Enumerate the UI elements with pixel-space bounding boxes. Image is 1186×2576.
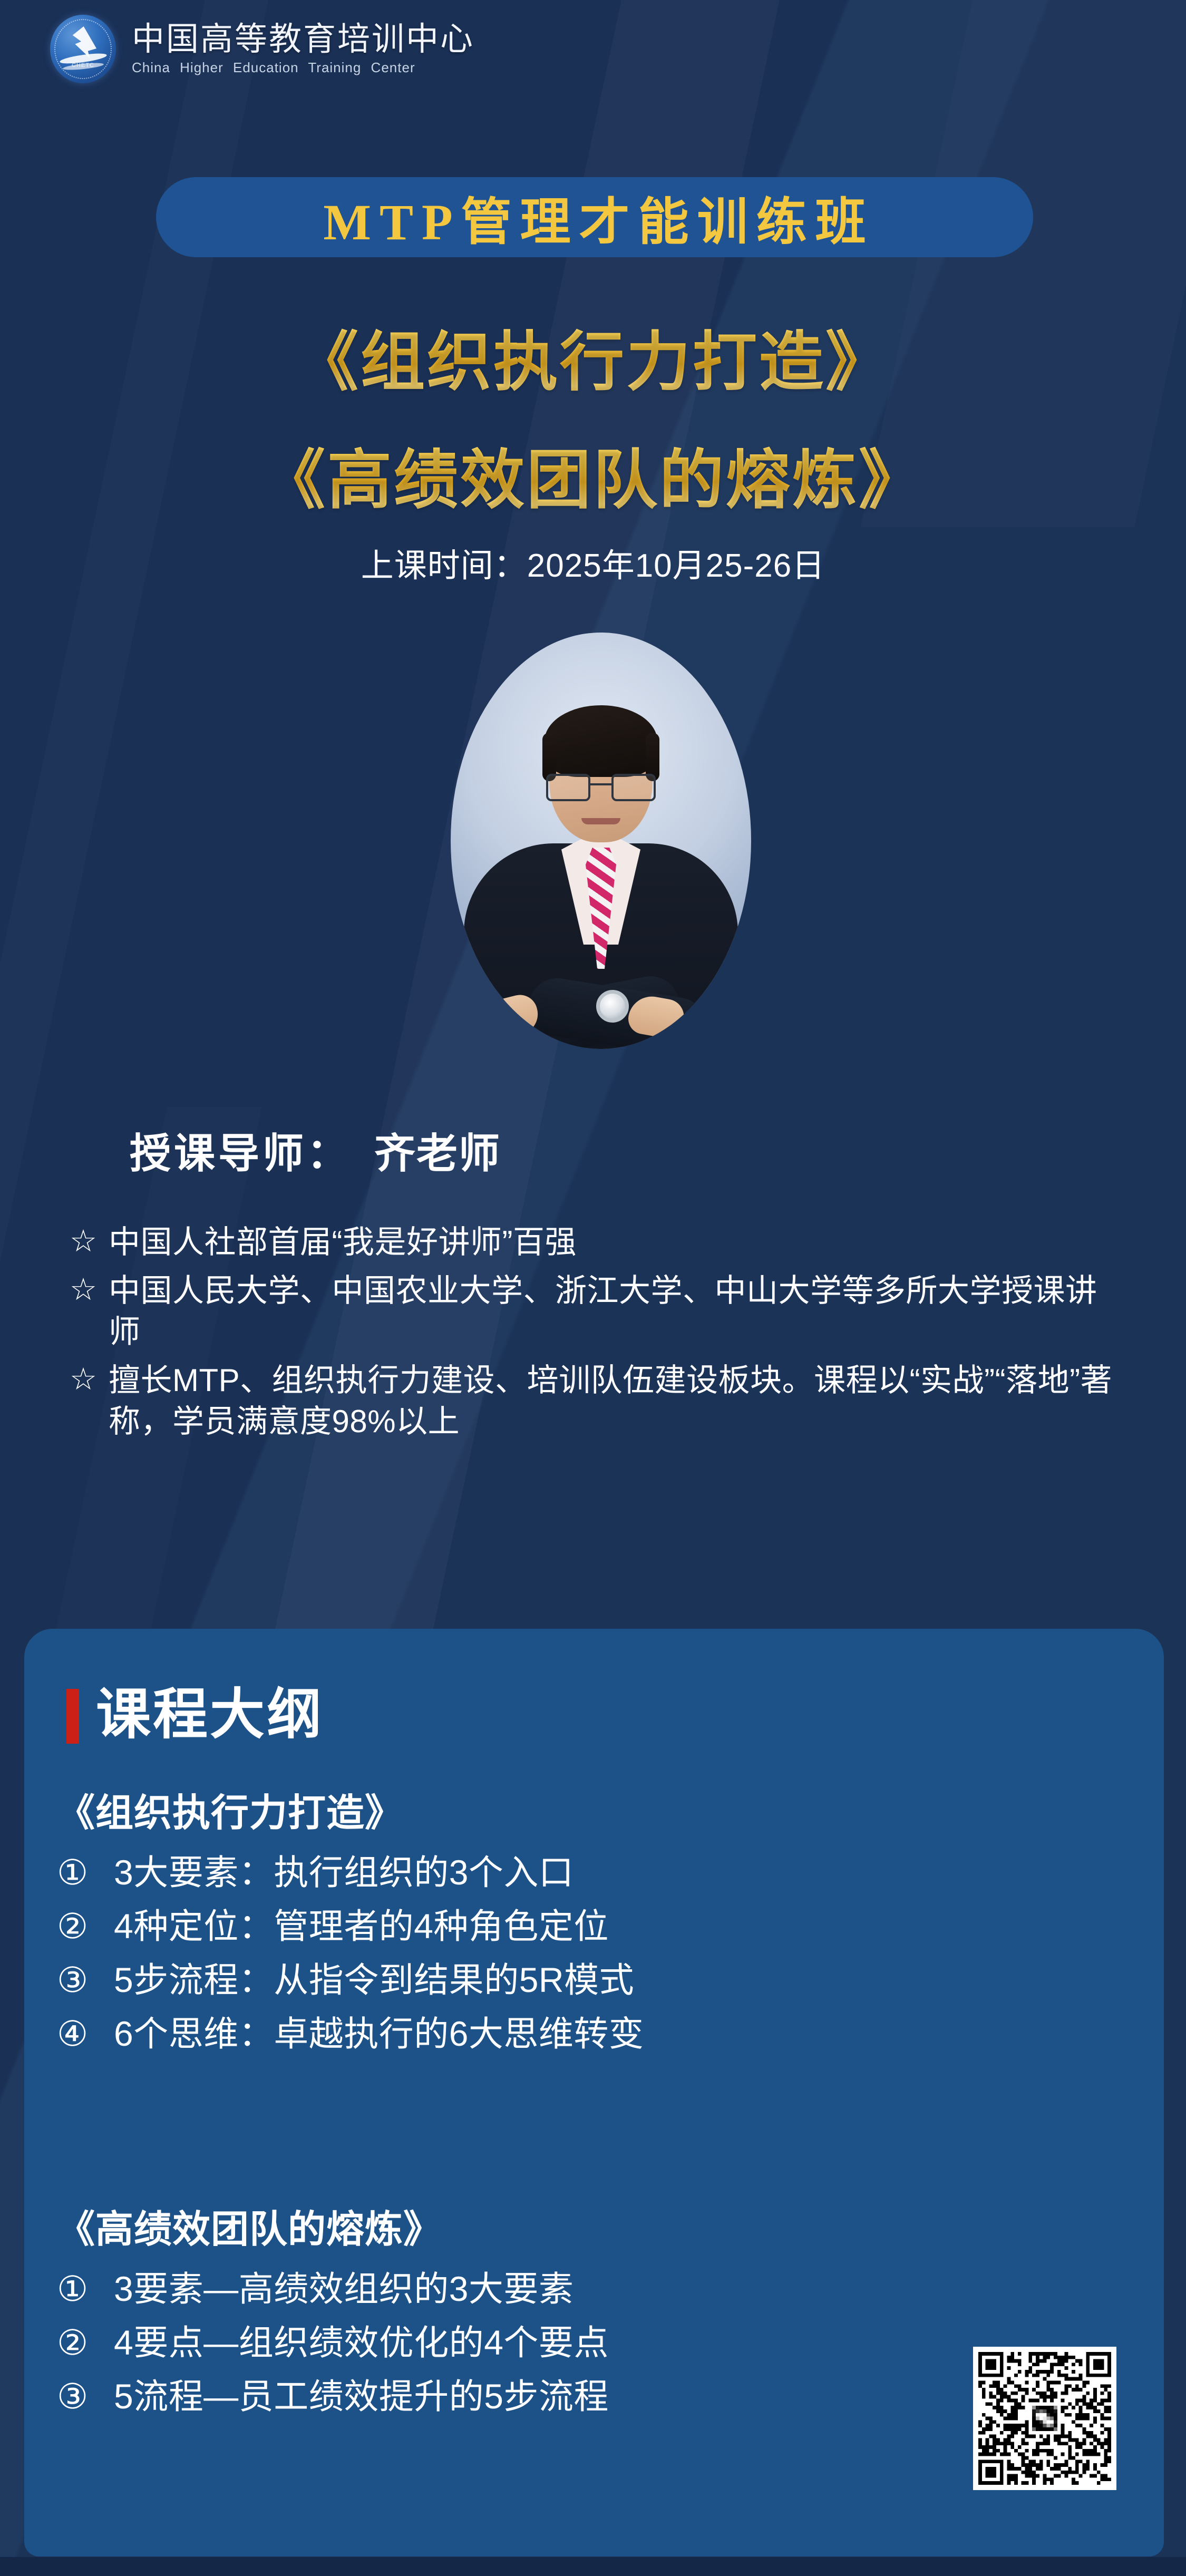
portrait-circle [451,633,751,1049]
outline-item-number: ③ [57,1960,114,2000]
instructor-label: 授课导师： [130,1130,351,1177]
wechat-qr-code[interactable] [973,2347,1116,2490]
glasses-bridge [590,783,611,785]
brand-name-cn: 中国高等教育培训中心 [132,22,474,57]
outline-item-text: 5流程—员工绩效提升的5步流程 [114,2377,609,2417]
glasses-icon [546,774,656,802]
course-title-2: 《高绩效团队的熔炼》 [0,428,1186,521]
outline-item-number: ② [57,1907,114,1947]
wristwatch-icon [596,990,629,1023]
mtp-banner: MTP管理才能训练班 [156,177,1033,257]
outline-item-list: ① 3大要素：执行组织的3个入口 ② 4种定位：管理者的4种角色定位 ③ 5步流… [57,1853,1090,2054]
outline-item-text: 4种定位：管理者的4种角色定位 [114,1907,609,1947]
outline-item-number: ② [57,2323,114,2363]
outline-item: ③ 5步流程：从指令到结果的5R模式 [57,1960,1090,2000]
mouth-shape [581,818,620,824]
course-title-1: 《组织执行力打造》 [0,310,1186,403]
footer-strip [0,2557,1186,2576]
chetc-seal-icon: CHETC [50,15,116,83]
credential-item: ☆ 中国人民大学、中国农业大学、浙江大学、中山大学等多所大学授课讲师 [70,1270,1119,1353]
outline-item-number: ① [57,2269,114,2309]
outline-section-1: 《组织执行力打造》 ① 3大要素：执行组织的3个入口 ② 4种定位：管理者的4种… [57,1782,1090,2068]
outline-item-text: 3要素—高绩效组织的3大要素 [114,2269,573,2309]
outline-item: ① 3大要素：执行组织的3个入口 [57,1853,1090,1893]
outline-item-text: 6个思维：卓越执行的6大思维转变 [114,2014,644,2054]
star-outline-icon: ☆ [70,1222,109,1261]
outline-section-2: 《高绩效团队的熔炼》 ① 3要素—高绩效组织的3大要素 ② 4要点—组织绩效优化… [57,2198,1090,2431]
outline-item-list: ① 3要素—高绩效组织的3大要素 ② 4要点—组织绩效优化的4个要点 ③ 5流程… [57,2269,1090,2417]
brand-name-en: China Higher Education Training Center [132,60,474,76]
outline-item-text: 4要点—组织绩效优化的4个要点 [114,2323,609,2363]
instructor-name: 齐老师 [374,1130,501,1177]
mtp-banner-label: MTP管理才能训练班 [315,181,874,254]
hair-shape [545,705,657,777]
instructor-name-line: 授课导师：齐老师 [130,1121,501,1180]
brand-name-block: 中国高等教育培训中心 China Higher Education Traini… [132,22,474,76]
credential-text: 中国人民大学、中国农业大学、浙江大学、中山大学等多所大学授课讲师 [109,1270,1119,1353]
accent-bar [66,1689,79,1744]
credential-item: ☆ 中国人社部首届“我是好讲师”百强 [70,1222,1119,1263]
lens-left [546,774,590,801]
outline-item: ④ 6个思维：卓越执行的6大思维转变 [57,2014,1090,2054]
credential-text: 擅长MTP、组织执行力建设、培训队伍建设板块。课程以“实战”“落地”著称，学员满… [109,1360,1119,1442]
qr-canvas [978,2352,1111,2485]
instructor-portrait [451,633,751,1049]
outline-item-number: ④ [57,2014,114,2054]
credentials-list: ☆ 中国人社部首届“我是好讲师”百强 ☆ 中国人民大学、中国农业大学、浙江大学、… [70,1222,1119,1450]
outline-item: ② 4要点—组织绩效优化的4个要点 [57,2323,1090,2363]
outline-section-title: 《高绩效团队的熔炼》 [57,2198,1090,2253]
class-date: 上课时间：2025年10月25-26日 [0,539,1186,586]
outline-item: ③ 5流程—员工绩效提升的5步流程 [57,2377,1090,2417]
lens-right [611,774,656,801]
outline-item: ① 3要素—高绩效组织的3大要素 [57,2269,1090,2309]
star-outline-icon: ☆ [70,1360,109,1399]
outline-item-number: ③ [57,2377,114,2417]
outline-item-text: 5步流程：从指令到结果的5R模式 [114,1960,634,2000]
poster-root: CHETC 中国高等教育培训中心 China Higher Education … [0,0,1186,2576]
outline-item-text: 3大要素：执行组织的3个入口 [114,1853,573,1893]
seal-inner-text: CHETC [50,62,116,69]
outline-item-number: ① [57,1853,114,1893]
brand-header: CHETC 中国高等教育培训中心 China Higher Education … [50,15,474,83]
credential-item: ☆ 擅长MTP、组织执行力建设、培训队伍建设板块。课程以“实战”“落地”著称，学… [70,1360,1119,1442]
credential-text: 中国人社部首届“我是好讲师”百强 [109,1222,577,1263]
star-outline-icon: ☆ [70,1270,109,1309]
outline-heading: 课程大纲 [96,1687,324,1742]
outline-item: ② 4种定位：管理者的4种角色定位 [57,1907,1090,1947]
outline-heading-row: 课程大纲 [66,1686,324,1744]
outline-section-title: 《组织执行力打造》 [57,1782,1090,1837]
